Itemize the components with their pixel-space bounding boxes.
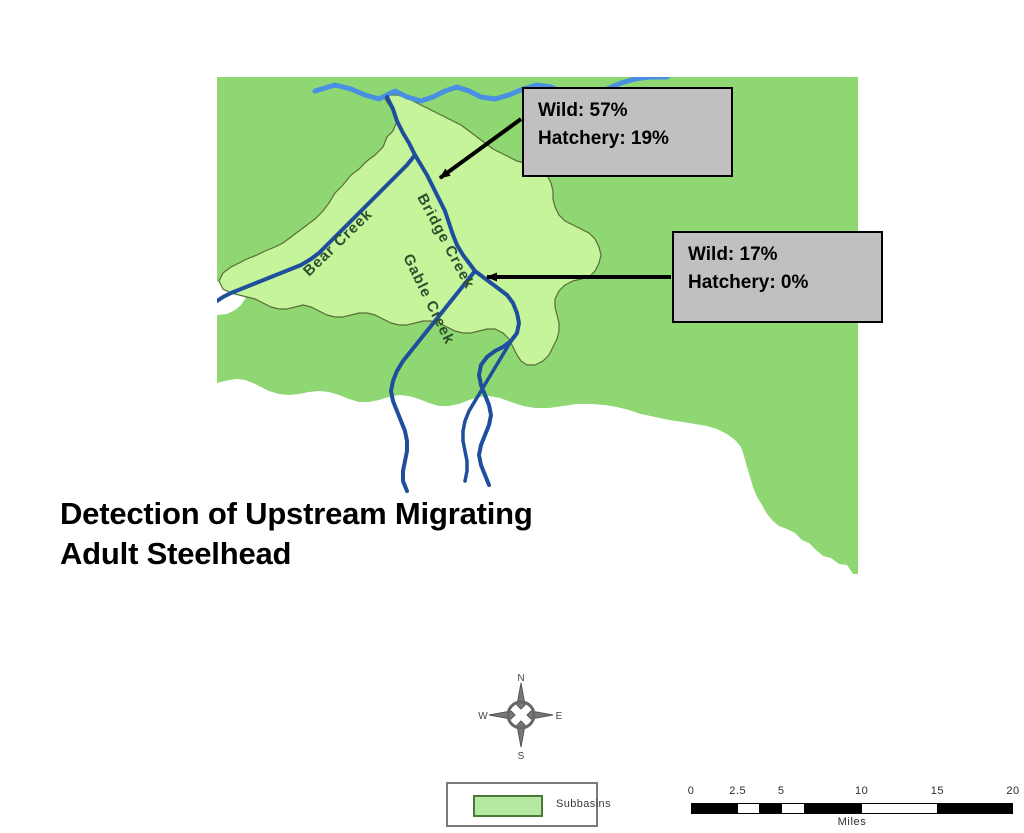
scalebar-segment-2 xyxy=(759,804,781,813)
scalebar-graphic xyxy=(691,803,1013,814)
scalebar-tick-0: 0 xyxy=(688,785,695,797)
compass-label-south: S xyxy=(518,751,525,761)
legend-label-subbasins: Subbasins xyxy=(556,798,611,810)
map-scalebar: 02.55101520 Miles xyxy=(691,785,1013,833)
scalebar-tick-2: 5 xyxy=(778,785,785,797)
page-title-line-2: Adult Steelhead xyxy=(60,534,720,574)
scalebar-segment-5 xyxy=(862,804,937,813)
scalebar-segment-3 xyxy=(782,804,804,813)
map-legend: Subbasins xyxy=(446,782,598,827)
scalebar-segment-4 xyxy=(804,804,862,813)
page-title: Detection of Upstream Migrating Adult St… xyxy=(60,494,720,573)
scalebar-segment-6 xyxy=(937,804,1012,813)
scalebar-tick-labels: 02.55101520 xyxy=(691,785,1013,801)
compass-needle-north xyxy=(517,683,525,709)
compass-rose-icon: N S W E xyxy=(475,669,567,761)
gable-creek-hatchery-value: Hatchery: 0% xyxy=(688,273,869,292)
bridge-creek-wild-value: Wild: 57% xyxy=(538,101,719,120)
gable-creek-wild-value: Wild: 17% xyxy=(688,245,869,264)
scalebar-tick-5: 20 xyxy=(1006,785,1019,797)
gable-creek-callout[interactable]: Wild: 17% Hatchery: 0% xyxy=(672,231,883,323)
compass-needle-south xyxy=(517,721,525,747)
compass-needle-east xyxy=(527,711,553,719)
legend-swatch-subbasins xyxy=(473,795,543,817)
scalebar-tick-1: 2.5 xyxy=(729,785,746,797)
scalebar-segment-1 xyxy=(738,804,759,813)
bridge-creek-callout[interactable]: Wild: 57% Hatchery: 19% xyxy=(522,87,733,177)
compass-label-east: E xyxy=(556,711,563,722)
map-figure: Bridge Creek Bear Creek Gable Creek N S … xyxy=(217,77,858,755)
compass-needle-west xyxy=(489,711,515,719)
bridge-creek-hatchery-value: Hatchery: 19% xyxy=(538,129,719,148)
scalebar-tick-3: 10 xyxy=(855,785,868,797)
compass-label-west: W xyxy=(478,711,488,722)
scalebar-segment-0 xyxy=(692,804,738,813)
scalebar-tick-4: 15 xyxy=(931,785,944,797)
slide-canvas: Bridge Creek Bear Creek Gable Creek N S … xyxy=(0,0,1024,768)
scalebar-units-label: Miles xyxy=(691,816,1013,828)
page-title-line-1: Detection of Upstream Migrating xyxy=(60,494,720,534)
compass-label-north: N xyxy=(517,673,524,684)
